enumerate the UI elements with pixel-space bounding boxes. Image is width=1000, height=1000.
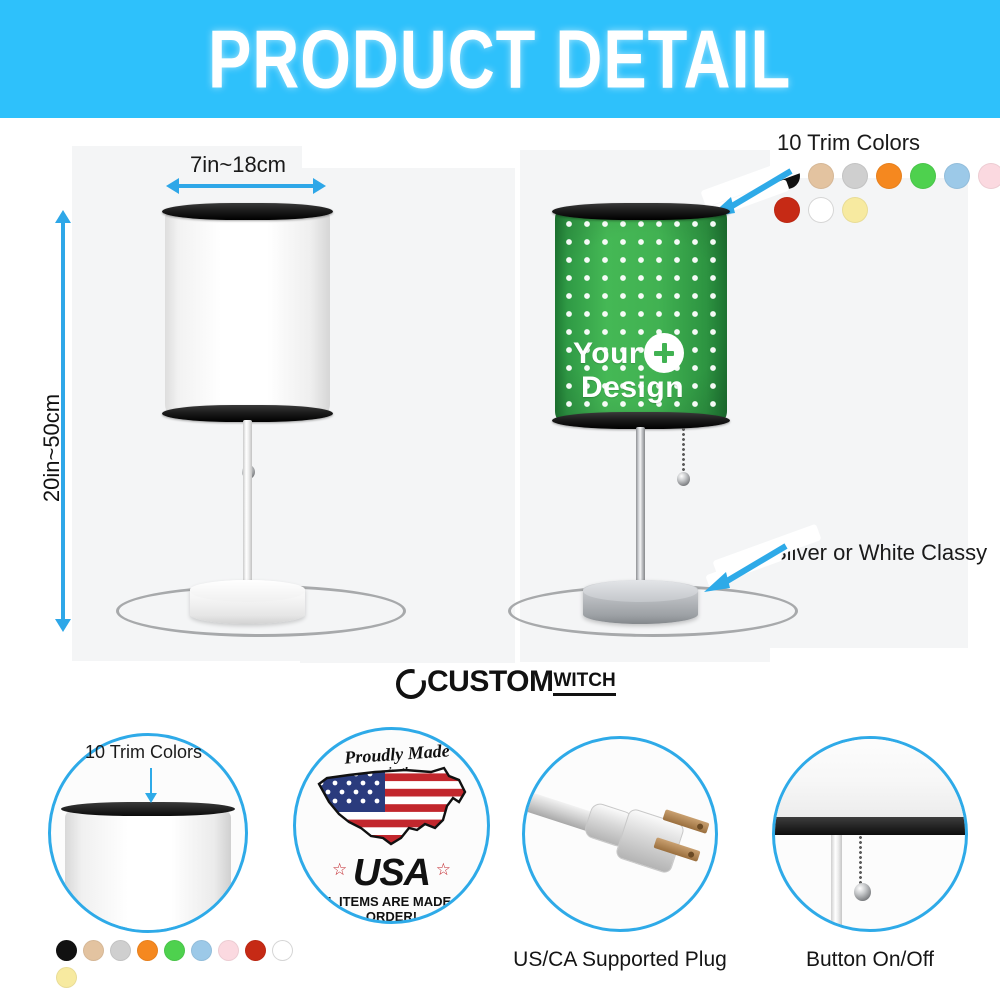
green-shade-top-trim — [552, 203, 730, 220]
swatch-tan[interactable] — [808, 163, 834, 189]
swatch-yellow[interactable] — [842, 197, 868, 223]
swatch-red[interactable] — [245, 940, 266, 961]
page-title: PRODUCT DETAIL — [208, 12, 791, 106]
base-callout-arrow — [700, 540, 790, 595]
white-lampshade — [165, 209, 330, 414]
white-base-top — [190, 580, 305, 602]
usa-badge-footer-text: ALL ITEMS ARE MADE TO ORDER! — [296, 894, 487, 924]
white-shade-surface — [165, 209, 330, 414]
mini-lampshade — [65, 810, 231, 933]
your-design-line1: Your — [573, 338, 641, 369]
mini-lampshade-trim — [61, 802, 235, 816]
swatch-orange[interactable] — [876, 163, 902, 189]
swatch-tan[interactable] — [83, 940, 104, 961]
trim-colors-top-label: 10 Trim Colors — [777, 130, 920, 156]
button-feature-pole — [831, 835, 842, 932]
white-shade-top-trim — [162, 203, 333, 220]
swatch-green[interactable] — [910, 163, 936, 189]
swatch-white[interactable] — [808, 197, 834, 223]
swatch-light-blue[interactable] — [191, 940, 212, 961]
silver-base-top — [583, 580, 698, 602]
button-feature-trim — [772, 817, 968, 835]
add-design-plus-icon[interactable] — [644, 333, 684, 373]
height-dimension-arrow — [61, 222, 65, 620]
button-feature-pull-chain[interactable] — [859, 835, 862, 887]
logo-witch-text: WITCH — [553, 670, 615, 696]
product-detail-page: PRODUCT DETAIL 10 Trim Colors 7in~18cm 2… — [0, 0, 1000, 1000]
swatch-pink[interactable] — [978, 163, 1000, 189]
width-dimension-arrow — [178, 184, 314, 188]
plug-feature-circle — [522, 736, 718, 932]
made-in-usa-feature-circle: Proudly Made in the — [293, 727, 490, 924]
green-lamp-chain-ball[interactable] — [677, 472, 690, 486]
button-feature-caption: Button On/Off — [760, 948, 980, 972]
swatch-gray[interactable] — [842, 163, 868, 189]
swatch-yellow[interactable] — [56, 967, 77, 988]
trim-colors-feature-label: 10 Trim Colors — [85, 742, 202, 763]
button-feature-chain-ball[interactable] — [854, 883, 871, 901]
logo-c-icon — [396, 669, 426, 699]
width-dimension-label: 7in~18cm — [190, 152, 286, 178]
swatch-light-blue[interactable] — [944, 163, 970, 189]
swatch-green[interactable] — [164, 940, 185, 961]
trim-colors-feature-swatches[interactable] — [56, 940, 299, 988]
plug-prong-hole-upper — [696, 822, 704, 830]
trim-colors-pointer-arrow — [150, 768, 152, 794]
white-lamp — [120, 195, 400, 645]
silver-lamp-base — [583, 580, 698, 624]
green-lampshade: Your Design — [555, 209, 727, 421]
swatch-gray[interactable] — [110, 940, 131, 961]
header-banner: PRODUCT DETAIL — [0, 0, 1000, 118]
usa-star-right-icon: ☆ — [436, 860, 451, 880]
green-lamp-pull-chain[interactable] — [682, 427, 685, 475]
usa-map-flag-icon — [313, 758, 473, 858]
plug-prong-hole-lower — [687, 850, 695, 858]
button-feature-circle — [772, 736, 968, 932]
green-lamp-pole — [636, 427, 645, 602]
trim-colors-feature-circle — [48, 733, 248, 933]
swatch-pink[interactable] — [218, 940, 239, 961]
swatch-black[interactable] — [56, 940, 77, 961]
white-lamp-base — [190, 580, 305, 624]
swatch-orange[interactable] — [137, 940, 158, 961]
swatch-white[interactable] — [272, 940, 293, 961]
logo-custom-text: CUSTOM — [427, 665, 553, 699]
brand-logo: CUSTOM WITCH — [396, 665, 616, 699]
backdrop-panel-far — [768, 178, 968, 648]
trim-colors-top-swatches[interactable] — [774, 163, 1000, 223]
button-feature-shade — [772, 736, 968, 819]
your-design-line2: Design — [581, 372, 684, 403]
plug-feature-caption: US/CA Supported Plug — [505, 948, 735, 972]
white-lamp-pole — [243, 420, 252, 600]
usa-badge-main-text: USA — [296, 852, 487, 895]
